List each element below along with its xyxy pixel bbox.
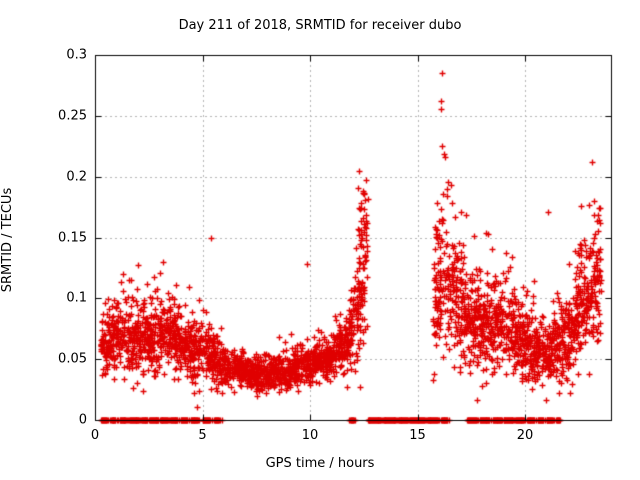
y-tick-label: 0.3 <box>66 48 87 63</box>
x-tick-label: 10 <box>302 428 319 443</box>
y-tick-label: 0.25 <box>58 108 87 123</box>
chart-figure: Day 211 of 2018, SRMTID for receiver dub… <box>0 0 640 480</box>
x-tick-label: 20 <box>517 428 534 443</box>
y-tick-label: 0.2 <box>66 169 87 184</box>
y-tick-label: 0 <box>79 413 87 428</box>
y-tick-label: 0.1 <box>66 291 87 306</box>
scatter-plot-canvas <box>0 0 640 480</box>
y-tick-label: 0.15 <box>58 230 87 245</box>
y-tick-label: 0.05 <box>58 352 87 367</box>
x-tick-label: 0 <box>91 428 99 443</box>
x-tick-label: 5 <box>198 428 206 443</box>
x-tick-label: 15 <box>409 428 426 443</box>
